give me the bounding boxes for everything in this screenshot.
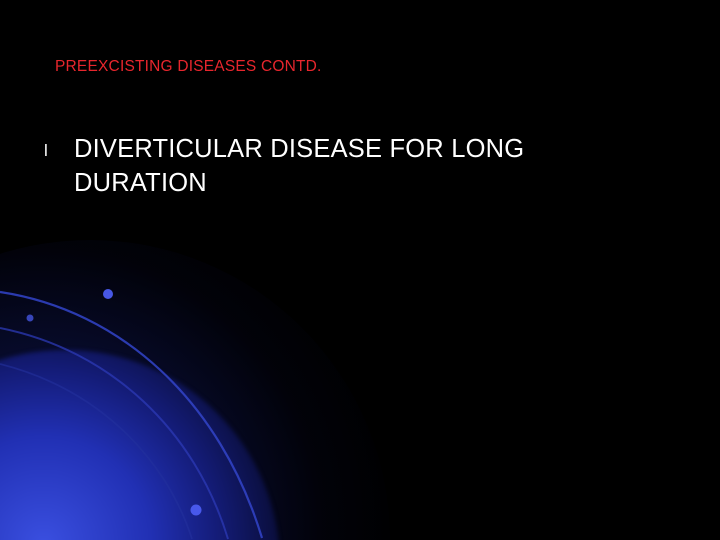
slide-canvas: PREEXCISTING DISEASES CONTD. l DIVERTICU… xyxy=(0,0,720,540)
bullet-item: l DIVERTICULAR DISEASE FOR LONG DURATION xyxy=(44,133,680,200)
slide-body: l DIVERTICULAR DISEASE FOR LONG DURATION xyxy=(44,133,680,200)
bullet-item-label: DIVERTICULAR DISEASE FOR LONG DURATION xyxy=(74,133,649,200)
bullet-marker-icon: l xyxy=(44,133,74,159)
slide-title: PREEXCISTING DISEASES CONTD. xyxy=(55,58,322,76)
decorative-arcs xyxy=(0,280,330,540)
